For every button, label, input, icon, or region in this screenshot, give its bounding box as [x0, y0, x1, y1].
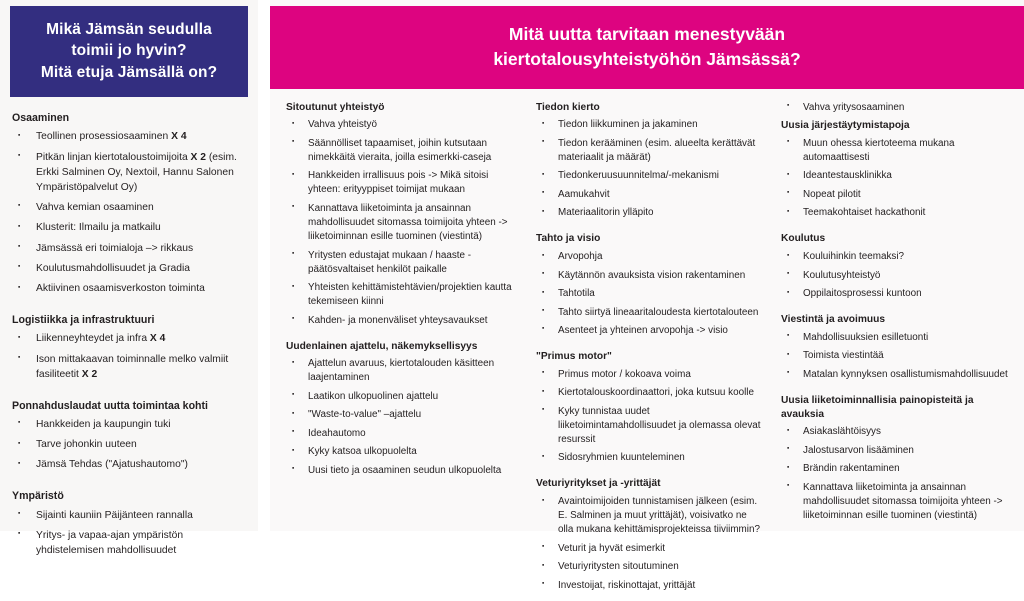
- bullet-list: AsiakaslähtöisyysJalostusarvon lisäämine…: [781, 425, 1014, 523]
- left-panel-header: Mikä Jämsän seudullatoimii jo hyvin?Mitä…: [10, 6, 248, 97]
- bullet-item: Tiedon liikkuminen ja jakaminen: [536, 118, 763, 132]
- bullet-list: Kouluihinkin teemaksi?KoulutusyhteistyöO…: [781, 250, 1014, 301]
- bullet-item: Kannattava liiketoiminta ja ansainnan ma…: [781, 481, 1014, 523]
- group-title: Viestintä ja avoimuus: [781, 313, 1014, 327]
- right-column-2: Tiedon kiertoTiedon liikkuminen ja jakam…: [528, 101, 773, 597]
- bullet-list: Liikenneyhteydet ja infra X 4Ison mittak…: [12, 332, 246, 382]
- bullet-item: Säännölliset tapaamiset, joihin kutsutaa…: [286, 137, 518, 165]
- bullet-item: Veturiyritysten sitoutuminen: [536, 560, 763, 574]
- left-header-line-3: Mitä etuja Jämsällä on?: [16, 62, 242, 83]
- bullet-item: Veturit ja hyvät esimerkit: [536, 542, 763, 556]
- content-group: Sitoutunut yhteistyöVahva yhteistyöSäänn…: [286, 101, 518, 328]
- bullet-list: Hankkeiden ja kaupungin tukiTarve johonk…: [12, 418, 246, 474]
- panel-divider-gap: [258, 0, 270, 531]
- content-group: Tiedon kiertoTiedon liikkuminen ja jakam…: [536, 101, 763, 221]
- bullet-list: Vahva yhteistyöSäännölliset tapaamiset, …: [286, 118, 518, 327]
- bullet-list: Sijainti kauniin Päijänteen rannallaYrit…: [12, 509, 246, 559]
- bullet-item: Investoijat, riskinottajat, yrittäjät: [536, 579, 763, 593]
- left-panel: Mikä Jämsän seudullatoimii jo hyvin?Mitä…: [0, 0, 258, 531]
- bullet-item: Uusi tieto ja osaaminen seudun ulkopuole…: [286, 464, 518, 478]
- bullet-item: Toimista viestintää: [781, 349, 1014, 363]
- content-group: Uusia järjestäytymistapojaMuun ohessa ki…: [781, 119, 1014, 220]
- bullet-item: Kyky katsoa ulkopuolelta: [286, 445, 518, 459]
- bullet-item: Matalan kynnyksen osallistumismahdollisu…: [781, 368, 1014, 382]
- bullet-item: Koulutusmahdollisuudet ja Gradia: [12, 262, 246, 277]
- group-title: Uudenlainen ajattelu, näkemyksellisyys: [286, 340, 518, 354]
- bullet-item: Brändin rakentaminen: [781, 462, 1014, 476]
- bullet-item: Arvopohja: [536, 250, 763, 264]
- left-header-line-2: toimii jo hyvin?: [16, 40, 242, 61]
- bullet-item: Asenteet ja yhteinen arvopohja -> visio: [536, 324, 763, 338]
- group-title: Osaaminen: [12, 111, 246, 125]
- bullet-item: Muun ohessa kiertoteema mukana automaatt…: [781, 137, 1014, 165]
- content-group: Uudenlainen ajattelu, näkemyksellisyysAj…: [286, 340, 518, 478]
- group-title: Veturiyritykset ja -yrittäjät: [536, 477, 763, 491]
- bullet-list: ArvopohjaKäytännön avauksista vision rak…: [536, 250, 763, 338]
- bullet-list-lead: Vahva yritysosaaminen: [781, 101, 1014, 115]
- slide-root: Mikä Jämsän seudullatoimii jo hyvin?Mitä…: [0, 0, 1024, 531]
- bullet-item: "Waste-to-value" –ajattelu: [286, 408, 518, 422]
- bullet-item: Primus motor / kokoava voima: [536, 368, 763, 382]
- bullet-item: Jalostusarvon lisääminen: [781, 444, 1014, 458]
- group-title: "Primus motor": [536, 350, 763, 364]
- bullet-item: Sijainti kauniin Päijänteen rannalla: [12, 509, 246, 524]
- content-group: KoulutusKouluihinkin teemaksi?Koulutusyh…: [781, 232, 1014, 301]
- bullet-item: Tahto siirtyä lineaaritaloudesta kiertot…: [536, 306, 763, 320]
- bullet-list: Teollinen prosessiosaaminen X 4Pitkän li…: [12, 130, 246, 297]
- bullet-item: Vahva kemian osaaminen: [12, 201, 246, 216]
- bullet-item: Laatikon ulkopuolinen ajattelu: [286, 390, 518, 404]
- bullet-item: Mahdollisuuksien esilletuonti: [781, 331, 1014, 345]
- group-title: Uusia järjestäytymistapoja: [781, 119, 1014, 133]
- bullet-item: Ideahautomo: [286, 427, 518, 441]
- bullet-item: Nopeat pilotit: [781, 188, 1014, 202]
- content-group: Logistiikka ja infrastruktuuriLiikenneyh…: [12, 313, 246, 382]
- right-panel: Mitä uutta tarvitaan menestyväänkiertota…: [270, 0, 1024, 531]
- bullet-item: Ajattelun avaruus, kiertotalouden käsitt…: [286, 357, 518, 385]
- bullet-item: Jämsä Tehdas ("Ajatushautomo"): [12, 458, 246, 473]
- bullet-item: Yhteisten kehittämistehtävien/projektien…: [286, 281, 518, 309]
- bullet-item: Kiertotalouskoordinaattori, joka kutsuu …: [536, 386, 763, 400]
- group-title: Logistiikka ja infrastruktuuri: [12, 313, 246, 327]
- content-group: Tahto ja visioArvopohjaKäytännön avauksi…: [536, 232, 763, 338]
- bullet-item: Asiakaslähtöisyys: [781, 425, 1014, 439]
- bullet-item: Kouluihinkin teemaksi?: [781, 250, 1014, 264]
- bullet-item: Liikenneyhteydet ja infra X 4: [12, 332, 246, 347]
- bullet-item: Kannattava liiketoiminta ja ansainnan ma…: [286, 202, 518, 244]
- bullet-item: Hankkeiden irrallisuus pois -> Mikä sito…: [286, 169, 518, 197]
- group-title: Uusia liiketoiminnallisia painopisteitä …: [781, 394, 1014, 422]
- bullet-item: Vahva yhteistyö: [286, 118, 518, 132]
- left-panel-body: OsaaminenTeollinen prosessiosaaminen X 4…: [0, 97, 258, 581]
- left-header-line-1: Mikä Jämsän seudulla: [16, 19, 242, 40]
- bullet-item: Kyky tunnistaa uudet liiketoimintamahdol…: [536, 405, 763, 447]
- bullet-item: Pitkän linjan kiertotaloustoimijoita X 2…: [12, 151, 246, 196]
- group-title: Ponnahduslaudat uutta toimintaa kohti: [12, 399, 246, 413]
- bullet-list: Mahdollisuuksien esilletuontiToimista vi…: [781, 331, 1014, 382]
- right-column-1: Sitoutunut yhteistyöVahva yhteistyöSäänn…: [278, 101, 528, 597]
- bullet-item: Yritysten edustajat mukaan / haaste - pä…: [286, 249, 518, 277]
- content-group: Uusia liiketoiminnallisia painopisteitä …: [781, 394, 1014, 523]
- bullet-item: Aktiivinen osaamisverkoston toiminta: [12, 282, 246, 297]
- bullet-list: Avaintoimijoiden tunnistamisen jälkeen (…: [536, 495, 763, 593]
- content-group: Viestintä ja avoimuusMahdollisuuksien es…: [781, 313, 1014, 382]
- bullet-item: Kahden- ja monenväliset yhteysavaukset: [286, 314, 518, 328]
- right-column-3: Vahva yritysosaaminenUusia järjestäytymi…: [773, 101, 1024, 597]
- group-title: Tahto ja visio: [536, 232, 763, 246]
- content-group: Ponnahduslaudat uutta toimintaa kohtiHan…: [12, 399, 246, 474]
- bullet-item: Yritys- ja vapaa-ajan ympäristön yhdiste…: [12, 529, 246, 559]
- bullet-item: Jämsässä eri toimialoja –> rikkaus: [12, 242, 246, 257]
- bullet-list: Muun ohessa kiertoteema mukana automaatt…: [781, 137, 1014, 220]
- bullet-item: Tiedon kerääminen (esim. alueelta kerätt…: [536, 137, 763, 165]
- bullet-item: Klusterit: Ilmailu ja matkailu: [12, 221, 246, 236]
- right-header-line-2: kiertotalousyhteistyöhön Jämsässä?: [278, 47, 1016, 72]
- content-group: "Primus motor"Primus motor / kokoava voi…: [536, 350, 763, 465]
- bullet-item: Aamukahvit: [536, 188, 763, 202]
- bullet-item: Materiaalitorin ylläpito: [536, 206, 763, 220]
- content-group: OsaaminenTeollinen prosessiosaaminen X 4…: [12, 111, 246, 297]
- bullet-item: Teemakohtaiset hackathonit: [781, 206, 1014, 220]
- bullet-item: Teollinen prosessiosaaminen X 4: [12, 130, 246, 145]
- bullet-list: Ajattelun avaruus, kiertotalouden käsitt…: [286, 357, 518, 477]
- group-title: Koulutus: [781, 232, 1014, 246]
- bullet-item: Oppilaitosprosessi kuntoon: [781, 287, 1014, 301]
- bullet-item: Koulutusyhteistyö: [781, 269, 1014, 283]
- group-title: Sitoutunut yhteistyö: [286, 101, 518, 115]
- bullet-item: Tiedonkeruusuunnitelma/-mekanismi: [536, 169, 763, 183]
- bullet-item: Tahtotila: [536, 287, 763, 301]
- bullet-item: Tarve johonkin uuteen: [12, 438, 246, 453]
- right-panel-header: Mitä uutta tarvitaan menestyväänkiertota…: [270, 6, 1024, 89]
- content-group: Veturiyritykset ja -yrittäjätAvaintoimij…: [536, 477, 763, 592]
- content-group: YmpäristöSijainti kauniin Päijänteen ran…: [12, 489, 246, 558]
- bullet-item: Ison mittakaavan toiminnalle melko valmi…: [12, 353, 246, 383]
- group-title: Tiedon kierto: [536, 101, 763, 115]
- bullet-item: Vahva yritysosaaminen: [781, 101, 1014, 115]
- bullet-list: Tiedon liikkuminen ja jakaminenTiedon ke…: [536, 118, 763, 220]
- bullet-item: Sidosryhmien kuunteleminen: [536, 451, 763, 465]
- group-title: Ympäristö: [12, 489, 246, 503]
- right-panel-body: Sitoutunut yhteistyöVahva yhteistyöSäänn…: [270, 89, 1024, 601]
- bullet-item: Ideantestausklinikka: [781, 169, 1014, 183]
- bullet-item: Hankkeiden ja kaupungin tuki: [12, 418, 246, 433]
- bullet-item: Käytännön avauksista vision rakentaminen: [536, 269, 763, 283]
- bullet-list: Primus motor / kokoava voimaKiertotalous…: [536, 368, 763, 466]
- right-header-line-1: Mitä uutta tarvitaan menestyvään: [278, 22, 1016, 47]
